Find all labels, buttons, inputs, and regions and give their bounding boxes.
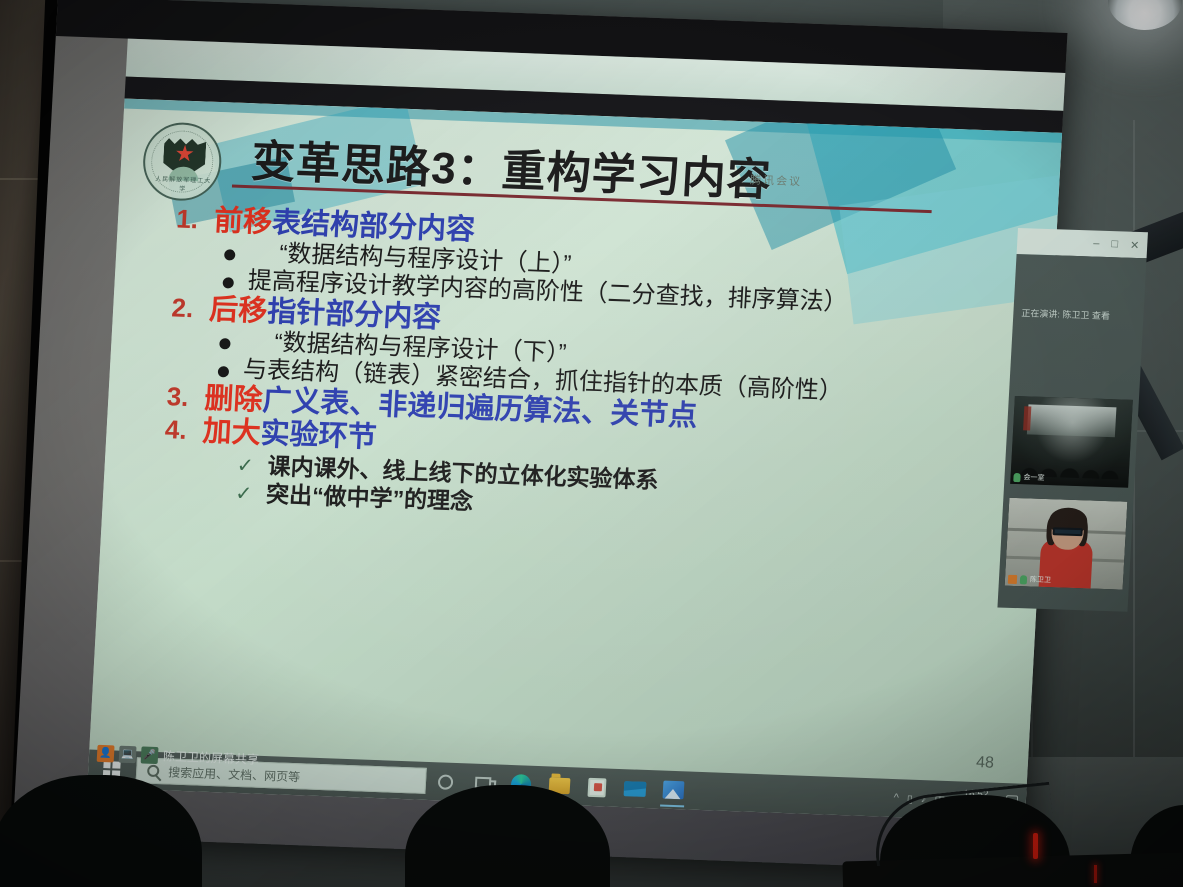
list-item-number: 1. bbox=[163, 204, 199, 233]
check-icon: ✓ bbox=[236, 455, 254, 479]
video-tile[interactable]: 会一室 bbox=[1010, 396, 1133, 488]
microphone-icon bbox=[1013, 472, 1020, 481]
maximize-icon[interactable]: □ bbox=[1111, 238, 1118, 250]
list-item-rest: 实验环节 bbox=[260, 418, 378, 454]
list-item-emphasis: 删除 bbox=[204, 383, 264, 417]
close-icon[interactable]: ✕ bbox=[1130, 238, 1140, 251]
minimize-icon[interactable]: – bbox=[1093, 238, 1100, 250]
microphone-led-indicator-2 bbox=[1094, 865, 1097, 883]
person-glasses bbox=[1052, 527, 1082, 536]
slide-body: 1.前移表结构部分内容“数据结构与程序设计（上）”提高程序设计教学内容的高阶性（… bbox=[149, 204, 1047, 538]
avatar-icon bbox=[1008, 574, 1017, 583]
bullet-icon bbox=[219, 338, 231, 349]
chair bbox=[405, 785, 610, 887]
check-icon: ✓ bbox=[235, 483, 253, 507]
list-item-text: 加大实验环节 bbox=[202, 417, 378, 455]
projected-desktop: 人民解放军理工大学 变革思路3：重构学习内容 1.前移表结构部分内容“数据结构与… bbox=[87, 98, 1062, 821]
video-room-flag bbox=[1023, 406, 1031, 430]
video-tile[interactable]: 陈卫卫 bbox=[1005, 498, 1128, 590]
chair bbox=[0, 775, 202, 887]
bullet-icon bbox=[218, 366, 230, 377]
participant-name: 陈卫卫 bbox=[1030, 575, 1052, 586]
microphone-icon bbox=[1020, 575, 1027, 584]
sub-item-text: 突出“做中学”的理念 bbox=[265, 481, 473, 515]
tencent-meeting-sidebar: – □ ✕ 正在演讲: 陈卫卫 查看 会一室 bbox=[997, 228, 1148, 612]
list-item-rest: 指针部分内容 bbox=[266, 296, 442, 334]
video-tile-label: 会一室 bbox=[1013, 472, 1045, 483]
foreground-furniture bbox=[0, 737, 1183, 887]
conference-room-scene: 人民解放军理工大学 变革思路3：重构学习内容 1.前移表结构部分内容“数据结构与… bbox=[0, 0, 1183, 887]
list-item-number: 2. bbox=[159, 293, 195, 322]
video-tile-label: 陈卫卫 bbox=[1008, 574, 1052, 585]
microphone-led-indicator bbox=[1033, 833, 1038, 859]
participant-name: 会一室 bbox=[1023, 472, 1045, 483]
list-item-emphasis: 前移 bbox=[213, 205, 273, 239]
list-item-number: 3. bbox=[154, 382, 190, 411]
list-item-emphasis: 加大 bbox=[202, 416, 262, 450]
meeting-sidebar-body: 正在演讲: 陈卫卫 查看 会一室 bbox=[997, 254, 1146, 612]
list-item-number: 4. bbox=[152, 415, 188, 444]
powerpoint-slide: 人民解放军理工大学 变革思路3：重构学习内容 1.前移表结构部分内容“数据结构与… bbox=[89, 98, 1062, 783]
university-emblem-icon: 人民解放军理工大学 bbox=[141, 121, 223, 202]
emblem-label: 人民解放军理工大学 bbox=[154, 174, 213, 194]
bullet-icon bbox=[222, 277, 234, 288]
bullet-icon bbox=[224, 250, 236, 261]
video-room-wall bbox=[1027, 404, 1117, 437]
list-item-emphasis: 后移 bbox=[208, 294, 268, 328]
meeting-speaker-status: 正在演讲: 陈卫卫 查看 bbox=[1021, 306, 1138, 323]
